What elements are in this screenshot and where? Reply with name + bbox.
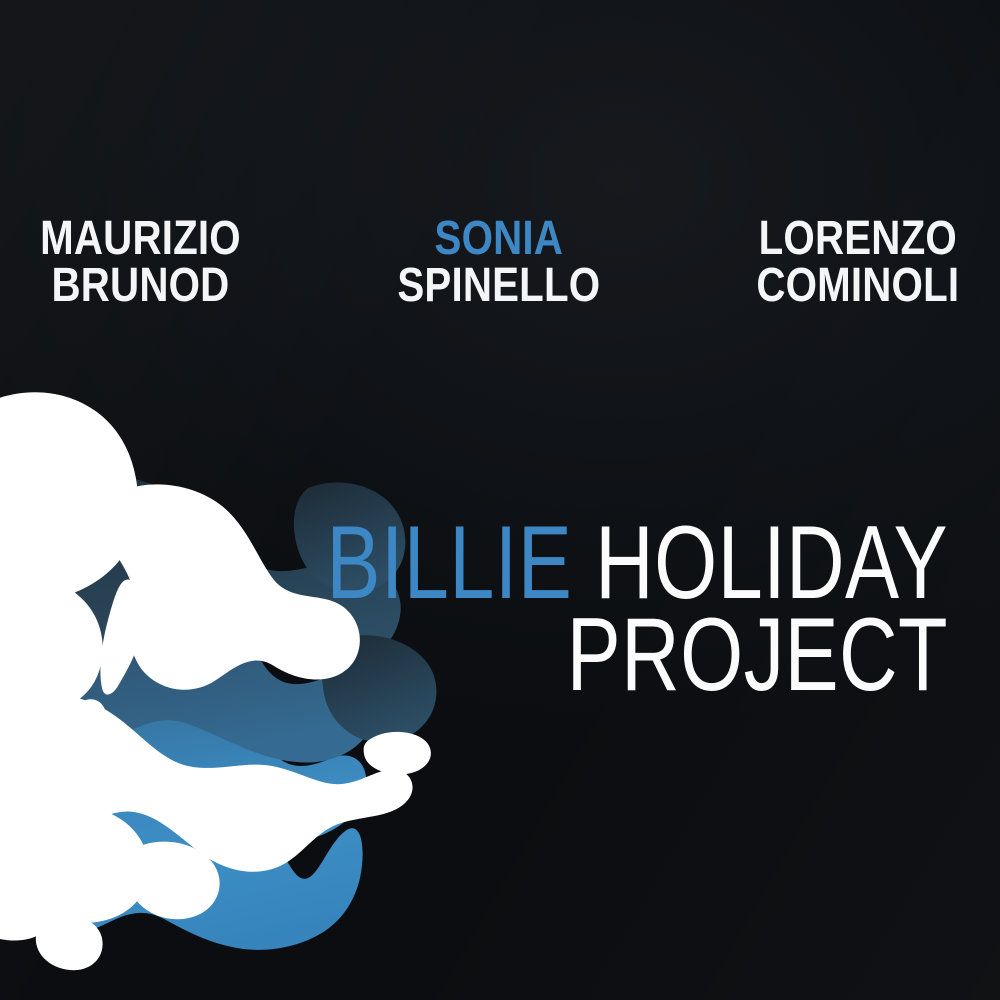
album-title-line-2: PROJECT	[326, 610, 948, 702]
credit-last-name: SPINELLO	[397, 263, 600, 310]
credit-last-name: BRUNOD	[40, 263, 241, 310]
credit-first-name: MAURIZIO	[40, 216, 241, 263]
credit-last-name: COMINOLI	[757, 263, 960, 310]
credit-first-name: LORENZO	[757, 216, 960, 263]
credit-first-name: SONIA	[397, 216, 600, 263]
album-title: BILLIE HOLIDAY PROJECT	[151, 518, 948, 701]
performer-credits: MAURIZIO BRUNOD SONIA SPINELLO LORENZO C…	[0, 216, 1000, 309]
credit-sonia-spinello: SONIA SPINELLO	[378, 216, 620, 309]
credit-maurizio-brunod: MAURIZIO BRUNOD	[21, 216, 260, 309]
credit-lorenzo-cominoli: LORENZO COMINOLI	[737, 216, 979, 309]
album-cover: MAURIZIO BRUNOD SONIA SPINELLO LORENZO C…	[0, 0, 1000, 1000]
album-title-billie: BILLIE	[326, 505, 572, 621]
